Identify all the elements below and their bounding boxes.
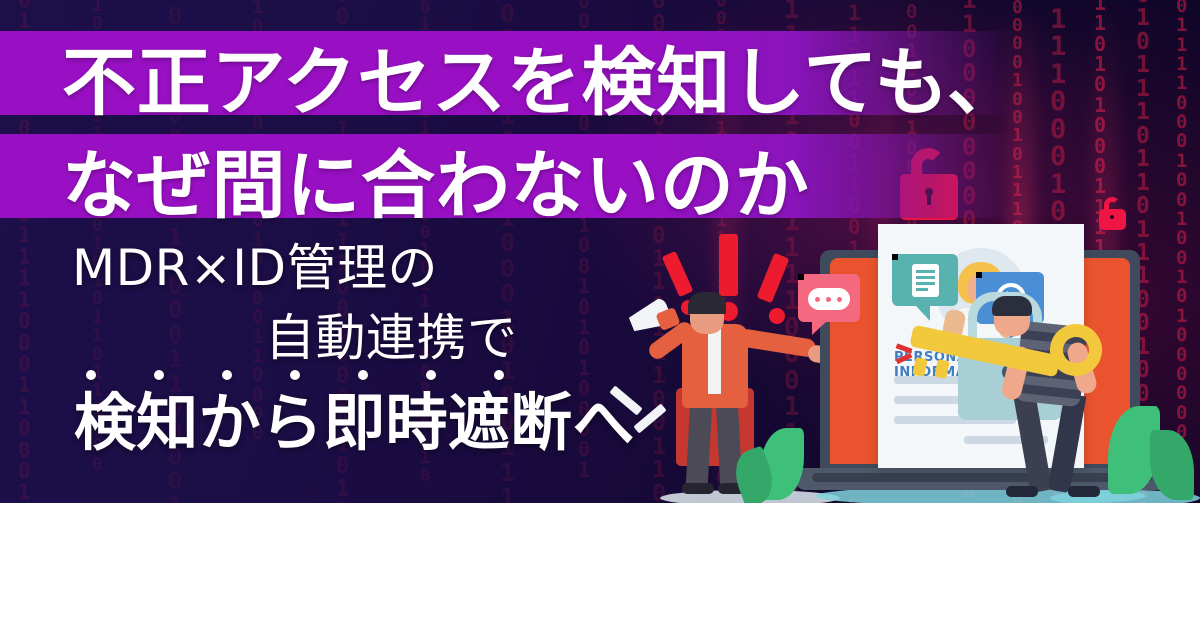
emphasis-dot xyxy=(426,370,436,380)
subtitle-line-1: MDR×ID管理の xyxy=(72,243,438,293)
emphasis-dot xyxy=(222,370,232,380)
subtitle-line-2: 自動連携で xyxy=(265,313,518,363)
document-bubble xyxy=(892,254,958,306)
webinar-banner: 0 1 1 0 1 1 0 0 0 0 1 1 1 1 1 0 0 0 1 1 … xyxy=(0,0,1200,630)
emphasis-dot xyxy=(358,370,368,380)
subtitle-line-3: 検知から即時遮断へ xyxy=(74,392,635,454)
security-illustration: PERSONAL INFORMATION xyxy=(620,228,1200,503)
emphasis-dot xyxy=(290,370,300,380)
emphasis-dots xyxy=(86,370,562,380)
padlock-icon-small xyxy=(1099,197,1126,230)
footer-bar: Canon キヤノン ITソリューションズ株式会社 WEBINAR 2026 4… xyxy=(0,503,1200,630)
title-line-1: 不正アクセスを検知しても、 xyxy=(62,46,1022,120)
emphasis-dot xyxy=(494,370,504,380)
title-line-2: なぜ間に合わないのか xyxy=(62,149,809,223)
emphasis-dot xyxy=(86,370,96,380)
chat-bubble xyxy=(798,274,860,322)
emphasis-dot xyxy=(154,370,164,380)
hero-section: 0 1 1 0 1 1 0 0 0 0 1 1 1 1 1 0 0 0 1 1 … xyxy=(0,0,1200,503)
